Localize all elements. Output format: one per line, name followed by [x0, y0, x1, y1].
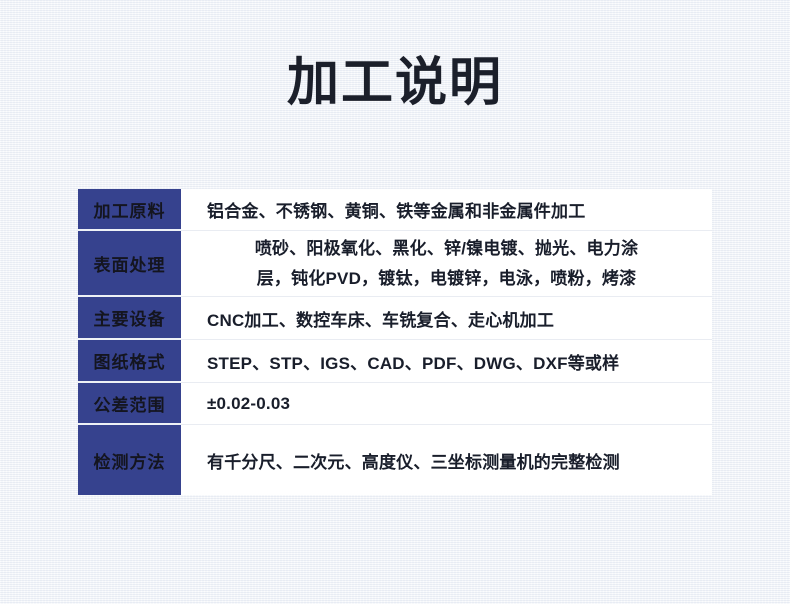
row-value-surface-treatment: 喷砂、阳极氧化、黑化、锌/镍电镀、抛光、电力涂 层，钝化PVD，镀钛，电镀锌，电…	[181, 231, 712, 297]
processing-spec-page: 加工说明 加工原料 铝合金、不锈钢、黄铜、铁等金属和非金属件加工 表面处理 喷砂…	[0, 0, 790, 604]
row-label-inspection-method: 检测方法	[78, 425, 181, 495]
table-row: 检测方法 有千分尺、二次元、高度仪、三坐标测量机的完整检测	[78, 425, 712, 495]
page-title: 加工说明	[0, 52, 790, 114]
row-value-drawing-format: STEP、STP、IGS、CAD、PDF、DWG、DXF等或样	[181, 340, 712, 383]
table-row: 表面处理 喷砂、阳极氧化、黑化、锌/镍电镀、抛光、电力涂 层，钝化PVD，镀钛，…	[78, 231, 712, 297]
row-value-inspection-method: 有千分尺、二次元、高度仪、三坐标测量机的完整检测	[181, 425, 712, 495]
table-row: 加工原料 铝合金、不锈钢、黄铜、铁等金属和非金属件加工	[78, 189, 712, 231]
table-row: 公差范围 ±0.02-0.03	[78, 383, 712, 425]
row-value-material: 铝合金、不锈钢、黄铜、铁等金属和非金属件加工	[181, 189, 712, 231]
row-label-material: 加工原料	[78, 189, 181, 231]
row-value-main-equipment: CNC加工、数控车床、车铣复合、走心机加工	[181, 297, 712, 340]
row-label-surface-treatment: 表面处理	[78, 231, 181, 297]
row-value-surface-treatment-line1: 喷砂、阳极氧化、黑化、锌/镍电镀、抛光、电力涂	[199, 234, 694, 264]
row-label-tolerance-range: 公差范围	[78, 383, 181, 425]
spec-table: 加工原料 铝合金、不锈钢、黄铜、铁等金属和非金属件加工 表面处理 喷砂、阳极氧化…	[78, 189, 712, 495]
row-label-main-equipment: 主要设备	[78, 297, 181, 340]
row-value-tolerance-range: ±0.02-0.03	[181, 383, 712, 425]
row-label-drawing-format: 图纸格式	[78, 340, 181, 383]
row-value-surface-treatment-line2: 层，钝化PVD，镀钛，电镀锌，电泳，喷粉，烤漆	[199, 264, 694, 294]
table-row: 主要设备 CNC加工、数控车床、车铣复合、走心机加工	[78, 297, 712, 340]
table-row: 图纸格式 STEP、STP、IGS、CAD、PDF、DWG、DXF等或样	[78, 340, 712, 383]
